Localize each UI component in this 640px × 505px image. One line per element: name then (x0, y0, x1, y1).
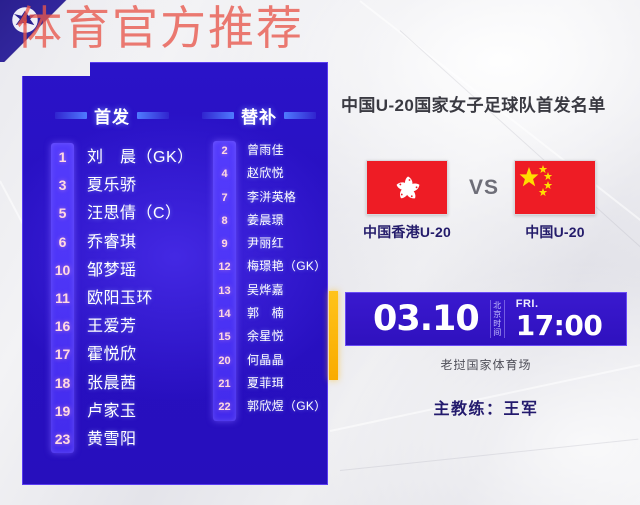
player-row: 14郭 楠 (213, 304, 329, 327)
player-number: 6 (51, 234, 74, 250)
substitutes-column-header: 替补 (189, 103, 329, 128)
player-number: 15 (213, 331, 236, 343)
matchup-block: 中国香港U-20 VS 中国U-20 (341, 160, 631, 252)
player-number: 13 (213, 285, 236, 297)
player-row: 17霍悦欣 (51, 340, 201, 368)
player-row: 11欧阳玉环 (51, 284, 201, 312)
player-name: 曾雨佳 (236, 141, 284, 158)
player-number: 14 (213, 308, 236, 320)
match-time-block: FRI. 17:00 (516, 299, 603, 340)
kickoff-time: 17:00 (516, 312, 603, 340)
player-number: 16 (51, 318, 74, 334)
page-title: 中国U-20国家女子足球队首发名单 (341, 91, 606, 116)
home-team-name: 中国香港U-20 (351, 222, 463, 242)
player-number: 19 (51, 403, 74, 419)
player-number: 9 (213, 238, 236, 250)
player-name: 何晶晶 (236, 351, 284, 368)
player-name: 夏乐骄 (74, 171, 137, 195)
home-team: 中国香港U-20 (351, 160, 463, 242)
header-bar-right (137, 112, 169, 119)
player-row: 15余星悦 (213, 327, 329, 350)
header-bar-left (202, 112, 234, 119)
player-number: 17 (51, 346, 74, 362)
player-number: 2 (213, 145, 236, 157)
player-name: 郭 楠 (236, 304, 284, 321)
player-number: 11 (51, 290, 74, 306)
player-number: 22 (213, 401, 236, 413)
player-name: 吴烨嘉 (236, 281, 284, 298)
match-datetime-bar: 03.10 北京时间 FRI. 17:00 (345, 292, 627, 346)
player-name: 夏菲珥 (236, 374, 284, 391)
weekday-label: FRI. (516, 299, 603, 310)
player-number: 20 (213, 355, 236, 367)
player-number: 8 (213, 215, 236, 227)
substitutes-roster-list: 2曾雨佳4赵欣悦7李洴英格8姜晨璟9尹丽红12梅璟艳（GK）13吴烨嘉14郭 楠… (213, 141, 329, 421)
player-name: 刘 晨（GK） (74, 143, 194, 167)
player-row: 23黄雪阳 (51, 425, 201, 453)
timezone-label: 北京时间 (490, 300, 505, 338)
player-name: 乔睿琪 (74, 228, 137, 252)
player-row: 6乔睿琪 (51, 228, 201, 256)
player-name: 郭欣煜（GK） (236, 397, 326, 414)
match-date: 03.10 (373, 302, 479, 337)
lineup-panel: 首发 替补 1刘 晨（GK）3夏乐骄5汪思倩（C）6乔睿琪10邹梦瑶11欧阳玉环… (22, 62, 328, 485)
player-row: 1刘 晨（GK） (51, 143, 201, 171)
player-name: 欧阳玉环 (74, 284, 153, 308)
player-number: 4 (213, 168, 236, 180)
player-number: 1 (51, 149, 74, 165)
player-row: 3夏乐骄 (51, 171, 201, 199)
player-row: 20何晶晶 (213, 351, 329, 374)
player-row: 9尹丽红 (213, 234, 329, 257)
player-number: 21 (213, 378, 236, 390)
player-row: 18张晨茜 (51, 369, 201, 397)
player-row: 2曾雨佳 (213, 141, 329, 164)
player-row: 12梅璟艳（GK） (213, 257, 329, 280)
player-row: 22郭欣煜（GK） (213, 397, 329, 420)
player-row: 13吴烨嘉 (213, 281, 329, 304)
player-row: 19卢家玉 (51, 397, 201, 425)
away-team: 中国U-20 (499, 160, 611, 242)
away-team-name: 中国U-20 (499, 222, 611, 242)
player-row: 4赵欣悦 (213, 164, 329, 187)
substitutes-header-label: 替补 (241, 103, 277, 128)
player-row: 21夏菲珥 (213, 374, 329, 397)
coach-label: 主教练：王军 (345, 395, 627, 419)
player-number: 12 (213, 261, 236, 273)
player-name: 霍悦欣 (74, 340, 137, 364)
header-bar-left (55, 112, 87, 119)
background-swoosh (340, 439, 638, 471)
accent-bar (329, 291, 338, 380)
player-number: 5 (51, 205, 74, 221)
player-row: 8姜晨璟 (213, 211, 329, 234)
player-name: 梅璟艳（GK） (236, 257, 326, 274)
player-name: 卢家玉 (74, 397, 137, 421)
player-name: 邹梦瑶 (74, 256, 137, 280)
player-name: 汪思倩（C） (74, 199, 182, 223)
player-row: 10邹梦瑶 (51, 256, 201, 284)
starters-header-label: 首发 (94, 103, 130, 128)
header-bar-right (284, 112, 316, 119)
player-row: 16王爱芳 (51, 312, 201, 340)
player-name: 尹丽红 (236, 234, 284, 251)
starters-roster-list: 1刘 晨（GK）3夏乐骄5汪思倩（C）6乔睿琪10邹梦瑶11欧阳玉环16王爱芳1… (51, 143, 201, 453)
player-number: 23 (51, 431, 74, 447)
poster-canvas: 体育官方推荐 首发 替补 1刘 晨（GK）3夏乐骄5汪思倩（C）6乔睿琪10邹梦… (0, 0, 640, 505)
watermark-title: 体育官方推荐 (16, 2, 304, 54)
starters-column-header: 首发 (29, 103, 195, 128)
player-row: 7李洴英格 (213, 188, 329, 211)
player-number: 18 (51, 375, 74, 391)
player-name: 张晨茜 (74, 369, 137, 393)
venue-label: 老挝国家体育场 (345, 356, 627, 373)
player-number: 3 (51, 177, 74, 193)
player-number: 10 (51, 262, 74, 278)
player-name: 赵欣悦 (236, 164, 284, 181)
hong-kong-flag-icon (366, 160, 448, 215)
player-name: 余星悦 (236, 327, 284, 344)
player-name: 黄雪阳 (74, 425, 137, 449)
player-name: 姜晨璟 (236, 211, 284, 228)
player-row: 5汪思倩（C） (51, 199, 201, 227)
china-flag-icon (514, 160, 596, 215)
player-name: 李洴英格 (236, 188, 296, 205)
player-name: 王爱芳 (74, 312, 137, 336)
player-number: 7 (213, 192, 236, 204)
